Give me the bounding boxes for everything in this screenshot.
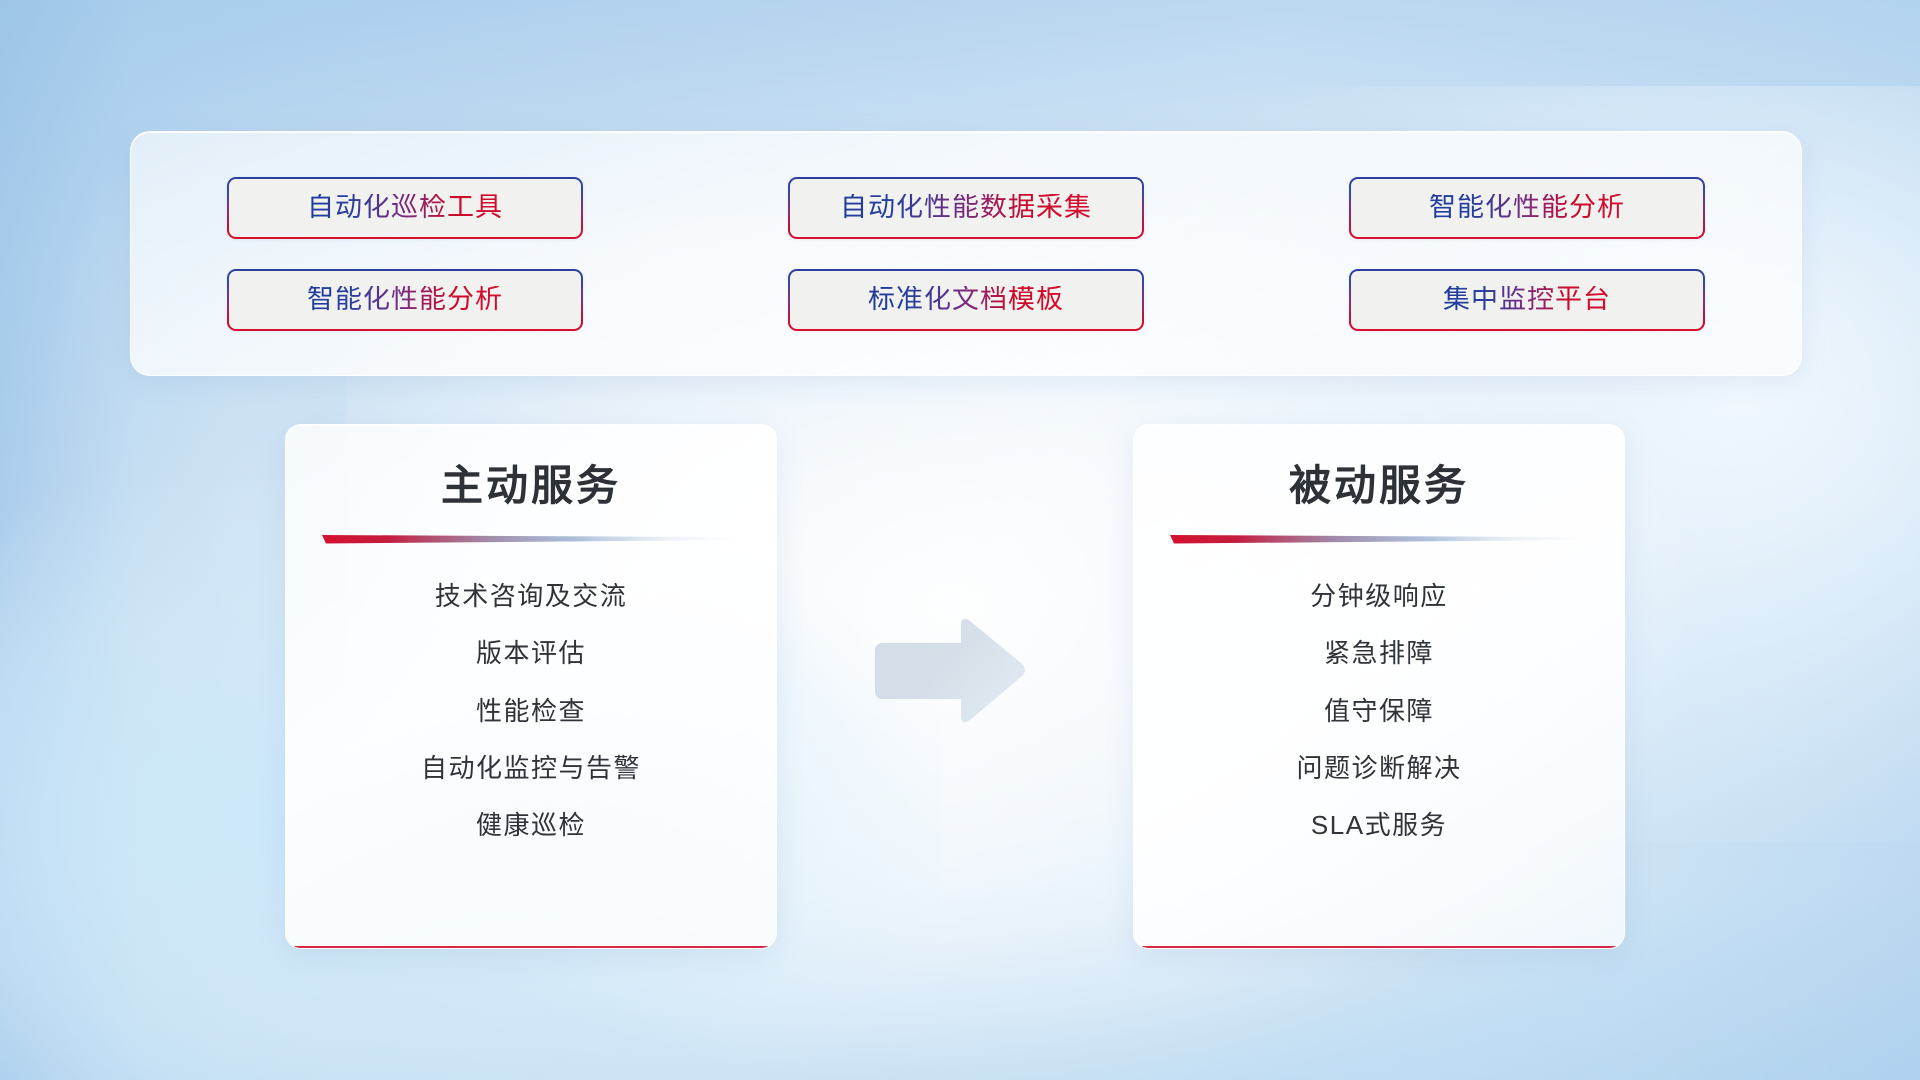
capability-pill-3[interactable]: 智能化性能分析	[1349, 177, 1705, 239]
reactive-service-title: 被动服务	[1134, 461, 1624, 511]
capability-pill-4[interactable]: 智能化性能分析	[227, 269, 583, 331]
capability-pill-label: 智能化性能分析	[1429, 194, 1625, 221]
capability-grid: 自动化巡检工具 自动化性能数据采集 智能化性能分析 智能化性能分析 标准化文档模…	[131, 177, 1801, 331]
list-item: 分钟级响应	[1310, 579, 1448, 614]
proactive-service-title: 主动服务	[286, 461, 776, 511]
list-item: 技术咨询及交流	[435, 579, 628, 614]
list-item: 自动化监控与告警	[421, 751, 641, 786]
list-item: 紧急排障	[1324, 636, 1434, 671]
capability-pill-5[interactable]: 标准化文档模板	[788, 269, 1144, 331]
list-item: 版本评估	[476, 636, 586, 671]
proactive-service-list: 技术咨询及交流 版本评估 性能检查 自动化监控与告警 健康巡检	[286, 579, 776, 842]
page-canvas: 自动化巡检工具 自动化性能数据采集 智能化性能分析 智能化性能分析 标准化文档模…	[0, 0, 1920, 1080]
flow-arrow-right-icon	[869, 613, 1029, 729]
capability-pill-label: 集中监控平台	[1443, 286, 1611, 313]
capability-pill-6[interactable]: 集中监控平台	[1349, 269, 1705, 331]
list-item: 值守保障	[1324, 694, 1434, 729]
proactive-service-card: 主动服务 技术咨询及交流 版本评估 性能检查	[285, 424, 777, 949]
list-item: 健康巡检	[476, 808, 586, 843]
capability-panel: 自动化巡检工具 自动化性能数据采集 智能化性能分析 智能化性能分析 标准化文档模…	[130, 131, 1802, 376]
capability-pill-label: 智能化性能分析	[307, 286, 503, 313]
capability-pill-label: 标准化文档模板	[868, 286, 1064, 313]
reactive-card-divider	[1170, 533, 1588, 545]
capability-pill-label: 自动化巡检工具	[307, 194, 503, 221]
capability-pill-2[interactable]: 自动化性能数据采集	[788, 177, 1144, 239]
proactive-card-divider	[322, 533, 740, 545]
list-item: 性能检查	[476, 694, 586, 729]
capability-pill-1[interactable]: 自动化巡检工具	[227, 177, 583, 239]
reactive-service-card: 被动服务 分钟级响应 紧急排障 值守保障	[1133, 424, 1625, 949]
capability-pill-label: 自动化性能数据采集	[840, 194, 1092, 221]
list-item: 问题诊断解决	[1296, 751, 1461, 786]
list-item: SLA式服务	[1311, 808, 1447, 843]
reactive-service-list: 分钟级响应 紧急排障 值守保障 问题诊断解决 SLA式服务	[1134, 579, 1624, 842]
